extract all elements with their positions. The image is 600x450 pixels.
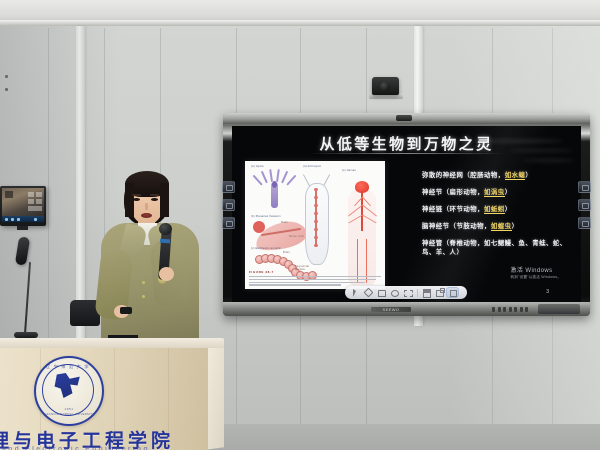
panel-power-module [538, 304, 580, 314]
mic-band [160, 239, 170, 244]
watermark-line2: 转到"设置"以激活 Windows。 [511, 275, 561, 280]
bullet-highlight: 如水螅 [505, 172, 526, 180]
bullet-item: 脑神经节（节肢动物，如蝗虫） [422, 222, 572, 231]
mic-grille-icon [159, 223, 172, 235]
figure-panel-label-e: (e) Human [342, 169, 356, 172]
bullet-highlight: 如蝗虫 [491, 223, 512, 231]
bullet-suffix: ） [512, 223, 519, 230]
figure-caption-label: FIGURE 38-7 [249, 270, 381, 274]
bullet-highlight: 如蚯蚓 [484, 206, 505, 214]
bullet-item: 弥散的神经网（腔肠动物，如水螅） [422, 171, 572, 180]
bullet-item: 神经链（环节动物，如蚯蚓） [422, 205, 572, 214]
bullet-text: 神经节（扁形动物， [422, 189, 484, 196]
mouth [141, 213, 152, 218]
figure-panel-label-a: (a) Hydra [251, 165, 264, 168]
panel-softkey-input[interactable] [578, 199, 591, 211]
share-tool-icon[interactable] [434, 288, 445, 297]
panel-brand-logo: SEEWO [371, 307, 411, 312]
eyebrow-left [132, 194, 141, 196]
monitor-preview [5, 191, 13, 198]
coat-button [142, 295, 145, 298]
slide-title: 从低等生物到万物之灵 [232, 133, 581, 154]
seal-year: 1951 [42, 407, 96, 411]
hair-side-right [160, 183, 169, 217]
hand-right [159, 267, 174, 281]
seal-name-en: LIAONING NORMAL UNIVERSITY [42, 413, 96, 416]
bullet-suffix: ） [525, 172, 532, 179]
save-tool-icon[interactable] [421, 288, 432, 297]
panel-softkey-settings[interactable] [578, 217, 591, 229]
monitor-taskbar [2, 216, 44, 222]
panel-port-row [492, 307, 528, 312]
panel-softkey-input-left[interactable] [222, 199, 235, 211]
bullet-suffix: ） [505, 206, 512, 213]
monitor-frame [0, 186, 46, 226]
toolbar-divider [417, 289, 418, 297]
bullet-item: 神经节（扁形动物，如涡虫） [422, 188, 572, 197]
monitor-stand [17, 226, 28, 230]
coat-button [142, 281, 145, 284]
university-seal: 辽宁师范大学 1951 LIAONING NORMAL UNIVERSITY [34, 356, 104, 426]
figure-caption: FIGURE 38-7 [249, 270, 381, 286]
bullet-text: 神经链（环节动物， [422, 206, 484, 213]
lectern-top [0, 338, 224, 348]
annotation-toolbar[interactable] [345, 286, 467, 299]
eraser-tool-icon[interactable] [376, 288, 387, 297]
select-tool-icon[interactable] [402, 288, 413, 297]
slide-page-number: 3 [546, 289, 549, 295]
presentation-clicker [120, 307, 132, 314]
panel-chin: SEEWO [223, 302, 590, 316]
lectern: 辽宁师范大学 1951 LIAONING NORMAL UNIVERSITY 理… [0, 338, 224, 450]
panel-softkey-menu-left[interactable] [222, 181, 235, 193]
panel-screen[interactable]: 从低等生物到万物之灵 (a) Hydra [232, 126, 581, 302]
title-underline [309, 153, 505, 154]
bullet-highlight: 如涡虫 [484, 189, 505, 197]
bullet-text: 神经管（脊椎动物，如七鳃鳗、鱼、青蛙、蛇、鸟、羊、人） [422, 240, 567, 256]
screenshot-root: 从低等生物到万物之灵 (a) Hydra [0, 0, 600, 450]
figure-panel-label-d: (d) Arthropod [303, 165, 321, 168]
lectern-institution-en: and Electronic Engineering [2, 446, 202, 450]
textbook-figure: (a) Hydra (b) Planarian flatworm [245, 161, 385, 289]
monitor-thumb [28, 206, 42, 211]
wall-fixture [5, 75, 8, 78]
monitor-thumb [28, 199, 34, 204]
bullet-suffix: ） [505, 189, 512, 196]
interactive-flat-panel[interactable]: 从低等生物到万物之灵 (a) Hydra [223, 113, 590, 316]
cursor-tool-icon[interactable] [350, 288, 361, 297]
monitor-thumb [28, 192, 34, 197]
panel-camera-icon [396, 115, 412, 121]
nose [145, 203, 148, 210]
bullet-text: 脑神经节（节肢动物， [422, 223, 491, 230]
windows-activation-watermark: 激活 Windows 转到"设置"以激活 Windows。 [511, 267, 561, 280]
human-cns-diagram: (e) Human [342, 181, 382, 285]
watermark-line1: 激活 Windows [511, 267, 561, 275]
bullet-text: 弥散的神经网（腔肠动物， [422, 172, 505, 179]
camera-lens-icon [380, 82, 390, 91]
bullet-item: 神经管（脊椎动物，如七鳃鳗、鱼、青蛙、蛇、鸟、羊、人） [422, 239, 572, 257]
eyebrow-right [150, 194, 159, 196]
monitor-screen [2, 188, 44, 219]
panel-softkey-settings-left[interactable] [222, 217, 235, 229]
pen-tool-icon[interactable] [363, 288, 374, 297]
presentation-slide: 从低等生物到万物之灵 (a) Hydra [232, 126, 581, 302]
monitor-thumb [36, 199, 42, 204]
shape-tool-icon[interactable] [389, 288, 400, 297]
figure-panel-label-b: (b) Planarian flatworm [251, 215, 281, 218]
figure-panel-label-c: (c) Earthworm annelid [251, 247, 281, 250]
presenter [96, 163, 201, 348]
monitor-thumb [36, 192, 42, 197]
close-tool-icon[interactable] [447, 288, 458, 297]
slide-bullet-list: 弥散的神经网（腔肠动物，如水螅） 神经节（扁形动物，如涡虫） 神经链（环节动物，… [422, 171, 572, 265]
wall-fixture [5, 88, 8, 91]
panel-softkey-menu[interactable] [578, 181, 591, 193]
